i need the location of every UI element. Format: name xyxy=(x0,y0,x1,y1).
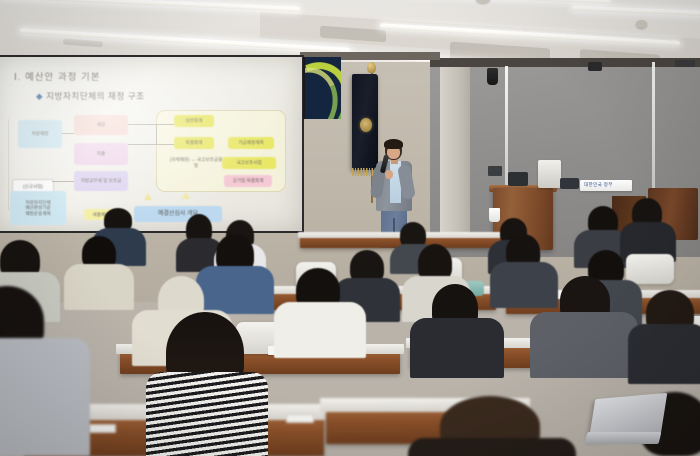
ceiling-light xyxy=(310,0,610,4)
wall-pillar xyxy=(440,62,470,242)
diagram-box-left-2: 지방자치단체 예산편성기준 재정운용계획 xyxy=(10,191,66,225)
diagram-connector xyxy=(128,124,174,125)
chair xyxy=(626,254,674,284)
av-desk-banner-text: 대한민국 정부 xyxy=(584,182,613,188)
smoke-detector-icon xyxy=(636,20,647,28)
diagram-connector xyxy=(52,181,74,182)
roll-up-banner xyxy=(303,57,341,119)
attendee-torso xyxy=(410,318,504,378)
diagram-box-right-0: 일반회계 xyxy=(174,115,214,127)
diagram-box-right-4: 공기업 특별회계 xyxy=(224,175,272,187)
ceiling-light xyxy=(572,5,700,15)
attendee-torso xyxy=(628,324,700,384)
av-monitor xyxy=(508,172,528,186)
diagram-box-mid-2: 지방교부세 및 보조금 xyxy=(74,171,128,191)
diagram-connector xyxy=(62,133,74,134)
document-camera xyxy=(538,160,561,188)
attendee-torso xyxy=(490,262,558,308)
ceiling-light xyxy=(0,0,300,12)
attendee-torso-striped xyxy=(146,372,268,456)
diagram-box-right-1: 특별회계 xyxy=(174,137,214,149)
diagram-arrow-up xyxy=(144,193,152,200)
ceiling-beam xyxy=(430,58,700,67)
laptop-keyboard xyxy=(585,432,662,444)
wall-speaker-icon xyxy=(588,62,602,71)
attendee-torso xyxy=(64,264,134,310)
diagram-connector xyxy=(156,124,157,144)
diagram-right-note: (자체재원) → 국고보조금결정 xyxy=(168,157,224,168)
attendee-torso xyxy=(196,266,274,314)
attendee-torso xyxy=(274,302,366,358)
diagram-box-left-0: 지방재정 xyxy=(18,120,62,148)
presenter-hair xyxy=(384,139,403,149)
paper-cup xyxy=(489,208,500,222)
flag-emblem-icon xyxy=(360,118,372,132)
slide-subtitle-text: 지방자치단체의 재정 구조 xyxy=(46,91,145,101)
av-monitor xyxy=(488,166,502,176)
presenter-hand xyxy=(385,170,393,179)
av-equipment xyxy=(560,178,579,189)
attendee-torso xyxy=(0,338,90,456)
flag-finial-icon xyxy=(367,62,376,73)
av-desk-banner: 대한민국 정부 xyxy=(580,180,632,191)
smoke-detector-icon xyxy=(476,0,490,3)
diagram-box-right-3: 국고보조사업 xyxy=(222,157,276,169)
projection-screen: Ⅰ. 예산안 과정 기본 ◆지방자치단체의 재정 구조 지방재정 (신규사업) … xyxy=(0,57,302,231)
desk-nameplate xyxy=(88,424,116,433)
diagram-connector xyxy=(128,144,174,145)
diagram-arrow-up xyxy=(182,192,190,199)
slide-subtitle: ◆지방자치단체의 재정 구조 xyxy=(36,90,145,102)
wall-speaker-icon xyxy=(487,68,498,85)
diagram-box-mid-1: 지출 xyxy=(74,143,128,165)
ceiling-vent xyxy=(63,39,103,48)
attendee-torso xyxy=(408,438,576,456)
diagram-box-right-2: 기금재정계획 xyxy=(228,137,274,149)
diagram-box-mid-0: 세입 xyxy=(74,115,128,135)
desk-nameplate xyxy=(286,414,314,423)
slide-title: Ⅰ. 예산안 과정 기본 xyxy=(14,69,101,83)
lecture-hall-photo: Ⅰ. 예산안 과정 기본 ◆지방자치단체의 재정 구조 지방재정 (신규사업) … xyxy=(0,0,700,456)
attendee-torso xyxy=(530,312,638,378)
bullet-icon: ◆ xyxy=(36,91,43,101)
projector-mount xyxy=(675,60,695,67)
